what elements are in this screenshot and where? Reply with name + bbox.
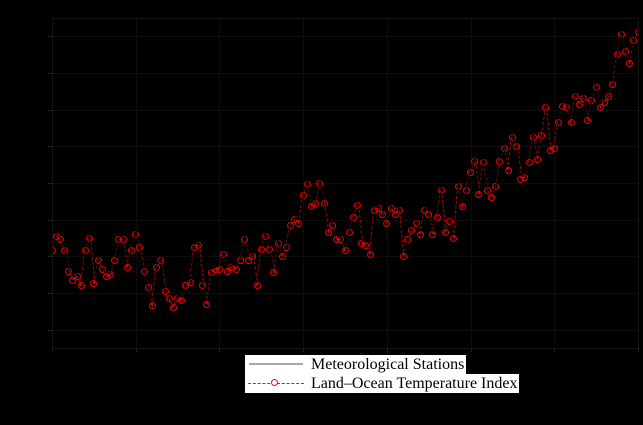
y-axis-title: Temperature Anomaly (°C) [4,39,19,170]
y-tick-label: -0.6 [20,323,37,335]
y-tick-label: 0.2 [20,176,34,188]
gray-series-segment [545,104,550,146]
legend-item-land-ocean-temperature-index[interactable]: Land–Ocean Temperature Index [245,374,575,393]
x-tick-label: 1920 [205,354,227,366]
y-tick-label: 1.0 [20,29,34,41]
x-tick-label: 1900 [122,354,144,366]
x-tick-label: 2020 [624,354,643,366]
axis-spine [52,348,638,349]
axis-spine [52,18,638,19]
series-layer [52,18,638,348]
chart-legend: Meteorological Stations Land–Ocean Tempe… [245,355,575,394]
y-tick-label: 0.8 [20,66,34,78]
legend-sample-dashed-circle-icon [245,374,307,393]
legend-label-land-ocean-temperature-index: Land–Ocean Temperature Index [307,374,519,393]
legend-label-meteorological-stations: Meteorological Stations [307,355,466,374]
y-tick-label: -0.4 [20,286,37,298]
plot-area [52,18,638,348]
x-tick-label: 1880 [38,354,60,366]
axis-spine [638,18,639,348]
y-tick-label: -0.2 [20,249,37,261]
temperature-anomaly-chart: Global Land–Ocean Temperature Index 1880… [0,0,643,425]
x-axis-title: Year [300,404,322,419]
legend-item-meteorological-stations[interactable]: Meteorological Stations [245,355,575,374]
x-tick-mark [638,348,639,352]
legend-sample-solid-line-icon [245,355,307,374]
y-tick-label: 0.0 [20,213,34,225]
y-tick-label: 0.4 [20,139,34,151]
chart-title: Global Land–Ocean Temperature Index [0,2,643,18]
y-tick-label: 0.6 [20,103,34,115]
axis-spine [52,18,53,348]
